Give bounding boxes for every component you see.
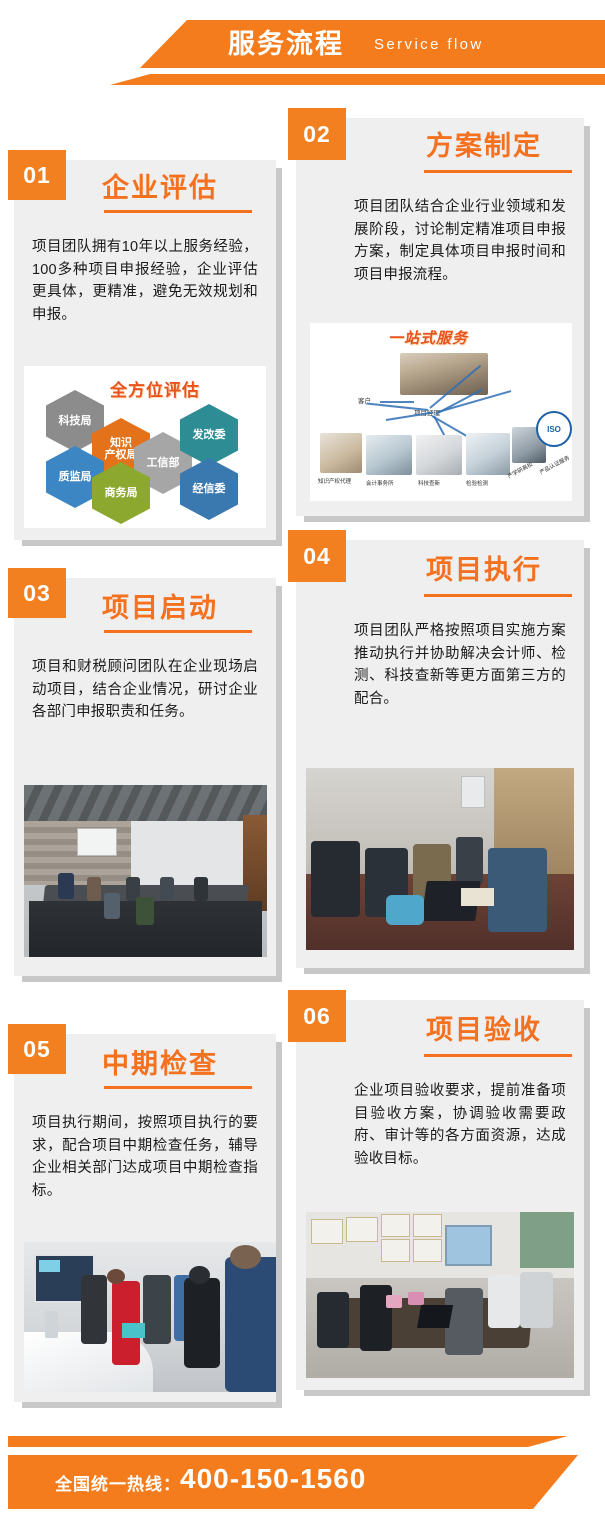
hotline-label: 全国统一热线：: [55, 1470, 181, 1495]
hexagon-cell-label: 商务局: [105, 487, 138, 499]
step-title: 项目执行: [426, 554, 542, 586]
step-number-badge: 05: [8, 1024, 66, 1074]
oss-node-tech-search: [416, 435, 462, 475]
step-description: 企业项目验收要求，提前准备项目验收方案，协调验收需要政府、审计等的各方面资源，达…: [354, 1080, 566, 1170]
hexagon-cell-label: 质监局: [59, 471, 92, 483]
page-header: 服务流程 Service flow: [0, 0, 605, 110]
oss-center-photo: [400, 353, 488, 395]
step-title: 项目启动: [102, 592, 218, 624]
oss-node-ip-agency: [320, 433, 362, 473]
oss-bottom-label: 知识产权代理: [318, 477, 351, 485]
hexagon-diagram: 全方位评估 科技局 知识 产权局 质监局 工信部 商务局 发改委 经信委: [24, 366, 266, 528]
step-number-badge: 01: [8, 150, 66, 200]
oss-node-accounting: [366, 435, 412, 475]
hotline-number[interactable]: 400-150-1560: [180, 1463, 366, 1495]
step-number-text: 04: [303, 543, 331, 570]
step-number-badge: 04: [288, 530, 346, 582]
infographic-page: 服务流程 Service flow 01 企业评估 项目团队拥有10年以上服务经…: [0, 0, 605, 1538]
step-card-06[interactable]: 06 项目验收 企业项目验收要求，提前准备项目验收方案，协调验收需要政府、审计等…: [296, 1000, 584, 1390]
title-underline: [424, 170, 572, 173]
step-description: 项目团队结合企业行业领域和发展阶段，讨论制定精准项目申报方案，制定具体项目申报时…: [354, 196, 566, 286]
step-photo: [24, 785, 267, 957]
step-card-03[interactable]: 03 项目启动 项目和财税顾问团队在企业现场启动项目，结合企业情况，研讨企业各部…: [14, 578, 276, 976]
one-stop-service-diagram: 一站式服务 客户 项目经理 ISO 知识产权代理: [310, 323, 572, 501]
step-number-text: 05: [23, 1036, 51, 1063]
step-number-badge: 03: [8, 568, 66, 618]
oss-bottom-label: 会计事务所: [366, 479, 394, 487]
one-stop-service-title: 一站式服务: [388, 327, 468, 348]
oss-bottom-label: 检验检测: [466, 479, 488, 487]
title-underline: [104, 630, 252, 633]
step-card-01[interactable]: 01 企业评估 项目团队拥有10年以上服务经验，100多种项目申报经验，企业评估…: [14, 160, 276, 540]
title-underline: [104, 1086, 252, 1089]
oss-node-inspection: [466, 433, 510, 475]
step-number-badge: 06: [288, 990, 346, 1042]
step-photo: [306, 768, 574, 950]
hexagon-diagram-title: 全方位评估: [110, 376, 200, 401]
footer-accent-strip: [8, 1436, 568, 1447]
step-number-text: 06: [303, 1003, 331, 1030]
iso-badge-icon: ISO: [536, 411, 572, 447]
step-number-text: 02: [303, 121, 331, 148]
title-underline: [424, 1054, 572, 1057]
hexagon-cell-label: 科技局: [59, 415, 92, 427]
step-card-02[interactable]: 02 方案制定 项目团队结合企业行业领域和发展阶段，讨论制定精准项目申报方案，制…: [296, 118, 584, 516]
step-number-text: 03: [23, 580, 51, 607]
step-card-05[interactable]: 05 中期检查 项目执行期间，按照项目执行的要求，配合项目中期检查任务，辅导企业…: [14, 1034, 276, 1402]
header-orange-bar: [140, 20, 605, 68]
step-number-text: 01: [23, 162, 51, 189]
step-description: 项目团队严格按照项目实施方案推动执行并协助解决会计师、检测、科技查新等更方面第三…: [354, 620, 566, 710]
step-number-badge: 02: [288, 108, 346, 160]
oss-bottom-label: 科技查新: [418, 479, 440, 487]
page-subtitle: Service flow: [374, 36, 484, 53]
hexagon-cell-label: 知识 产权局: [105, 437, 138, 461]
step-photo: [24, 1242, 282, 1392]
oss-arrow: [380, 401, 414, 403]
step-description: 项目执行期间，按照项目执行的要求，配合项目中期检查任务，辅导企业相关部门达成项目…: [32, 1112, 258, 1202]
page-title: 服务流程: [228, 27, 344, 61]
hexagon-cell-label: 发改委: [193, 429, 226, 441]
hexagon-cell-label: 工信部: [147, 457, 180, 469]
header-accent-strip: [110, 74, 605, 85]
step-description: 项目和财税顾问团队在企业现场启动项目，结合企业情况，研讨企业各部门申报职责和任务…: [32, 656, 258, 724]
step-photo: [306, 1212, 574, 1378]
step-title: 项目验收: [426, 1014, 542, 1046]
step-title: 企业评估: [102, 172, 218, 204]
step-title: 中期检查: [102, 1048, 218, 1080]
iso-badge-text: ISO: [547, 425, 561, 434]
step-card-04[interactable]: 04 项目执行 项目团队严格按照项目实施方案推动执行并协助解决会计师、检测、科技…: [296, 540, 584, 968]
step-description: 项目团队拥有10年以上服务经验，100多种项目申报经验，企业评估更具体，更精准，…: [32, 236, 258, 326]
hexagon-cell-label: 经信委: [193, 483, 226, 495]
step-title: 方案制定: [426, 130, 542, 162]
title-underline: [424, 594, 572, 597]
oss-bottom-label: 产学研高校: [506, 460, 534, 480]
title-underline: [104, 210, 252, 213]
